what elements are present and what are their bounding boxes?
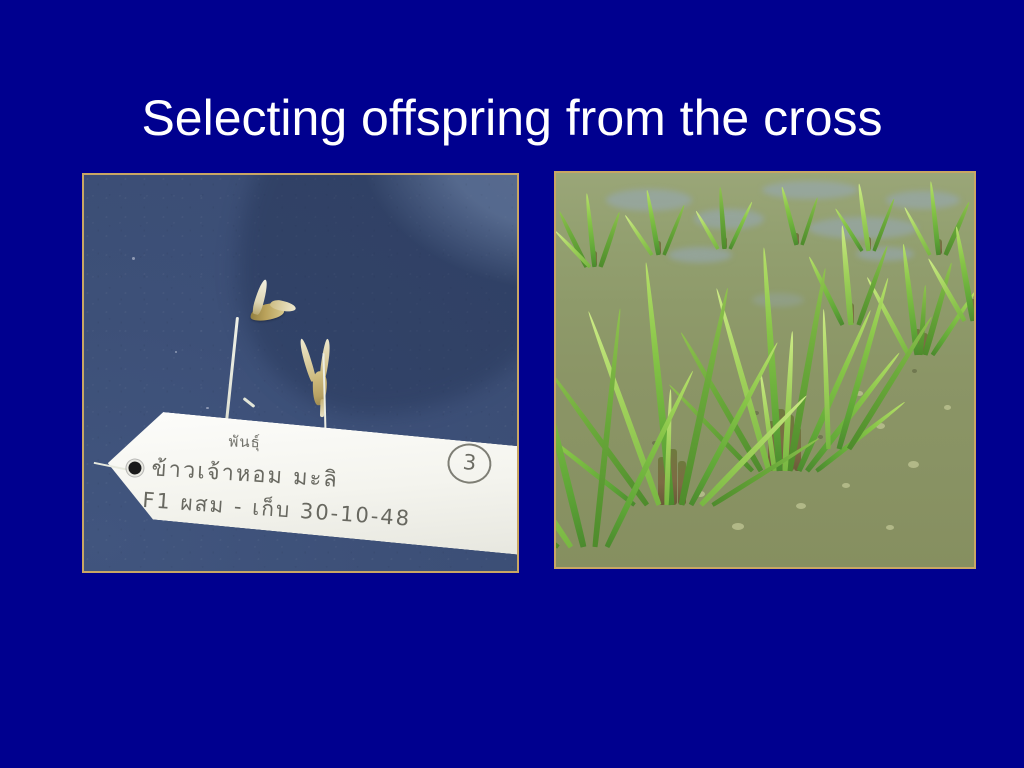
- debris-speck: [886, 525, 894, 530]
- dust-speck: [132, 257, 135, 260]
- debris-speck: [908, 461, 919, 468]
- rice-blade: [678, 287, 731, 506]
- rice-blade: [592, 308, 623, 547]
- tag-handwriting-line-1: พันธุ์: [228, 430, 261, 455]
- rice-clump-edge-left: [556, 247, 650, 547]
- rice-blade: [556, 286, 587, 548]
- photo-germinated-seeds-content: พันธุ์ ข้าวเจ้าหอม มะลิ F1 ผสม - เก็บ 30…: [84, 175, 517, 571]
- dust-speck: [175, 351, 177, 353]
- photo-rice-paddy: [554, 171, 976, 569]
- debris-speck: [912, 369, 917, 373]
- slide-title: Selecting offspring from the cross: [0, 89, 1024, 147]
- debris-speck: [944, 405, 951, 410]
- debris-speck: [732, 523, 744, 530]
- rice-clump-right-lean: [802, 249, 892, 449]
- debris-speck: [796, 503, 806, 509]
- photo-rice-paddy-content: [556, 173, 974, 567]
- debris-speck: [842, 483, 850, 488]
- rice-blade: [821, 309, 831, 449]
- dust-speck: [206, 407, 209, 409]
- presentation-slide: Selecting offspring from the cross: [0, 0, 1024, 768]
- photo-germinated-seeds: พันธุ์ ข้าวเจ้าหอม มะลิ F1 ผสม - เก็บ 30…: [82, 173, 519, 573]
- rice-clump-midground: [948, 211, 974, 321]
